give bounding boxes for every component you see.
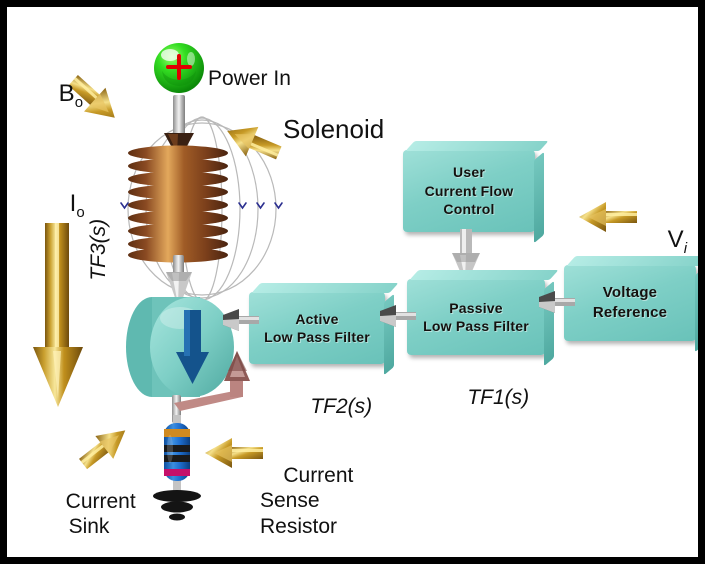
connector-sink-to-active xyxy=(219,305,261,335)
label-power-in: Power In xyxy=(208,67,291,91)
label-v-input: Vi xyxy=(641,200,687,284)
label-b-field: Bo xyxy=(32,54,83,138)
tf3-text: TF3(s) xyxy=(87,219,110,281)
current-sense-resistor xyxy=(157,415,197,493)
diagram-canvas: User Current Flow Control Active Low Pas… xyxy=(0,0,705,564)
block-line-2: Low Pass Filter xyxy=(264,328,370,346)
b-field-symbol: B xyxy=(59,80,75,107)
connector-passive-to-reference xyxy=(535,287,577,317)
power-in-sphere xyxy=(153,42,205,98)
block-line-2: Reference xyxy=(593,303,667,323)
current-sink-text: Current Sink xyxy=(66,490,136,538)
label-solenoid: Solenoid xyxy=(283,115,384,144)
current-sense-link xyxy=(172,347,258,415)
label-current-sense-resistor: Current Sense Resistor xyxy=(260,438,380,564)
label-current-sink: Current Sink xyxy=(40,464,138,564)
block-line-2: Current Flow xyxy=(425,182,514,200)
block-line-1: Passive xyxy=(449,299,503,317)
tf2-text: TF2(s) xyxy=(310,395,372,418)
block-line-2: Low Pass Filter xyxy=(423,317,529,335)
current-sense-resistor-text: Current Sense Resistor xyxy=(260,464,353,537)
ground-symbol xyxy=(150,489,204,523)
tf1-text: TF1(s) xyxy=(467,386,529,409)
block-line-1: Active xyxy=(295,310,338,328)
solenoid-pointer-arrow xyxy=(221,113,285,171)
v-input-symbol: V xyxy=(668,226,684,253)
block-line-1: User xyxy=(453,163,485,181)
block-line-1: Voltage xyxy=(603,283,657,303)
b-field-subscript: o xyxy=(75,94,83,111)
block-passive-low-pass-filter[interactable]: Passive Low Pass Filter xyxy=(407,279,545,355)
connector-active-to-passive xyxy=(376,301,418,331)
block-line-3: Control xyxy=(443,200,494,218)
sense-resistor-pointer-arrow xyxy=(203,436,265,470)
v-input-subscript: i xyxy=(684,240,687,257)
solenoid-coil xyxy=(119,143,237,265)
block-user-current-flow-control[interactable]: User Current Flow Control xyxy=(403,150,535,232)
label-tf1: TF1(s) xyxy=(444,362,529,434)
v-input-pointer-arrow xyxy=(577,200,639,234)
block-active-low-pass-filter[interactable]: Active Low Pass Filter xyxy=(249,292,385,364)
label-tf2: TF2(s) xyxy=(287,371,372,443)
label-tf3: TF3(s) xyxy=(63,219,135,304)
